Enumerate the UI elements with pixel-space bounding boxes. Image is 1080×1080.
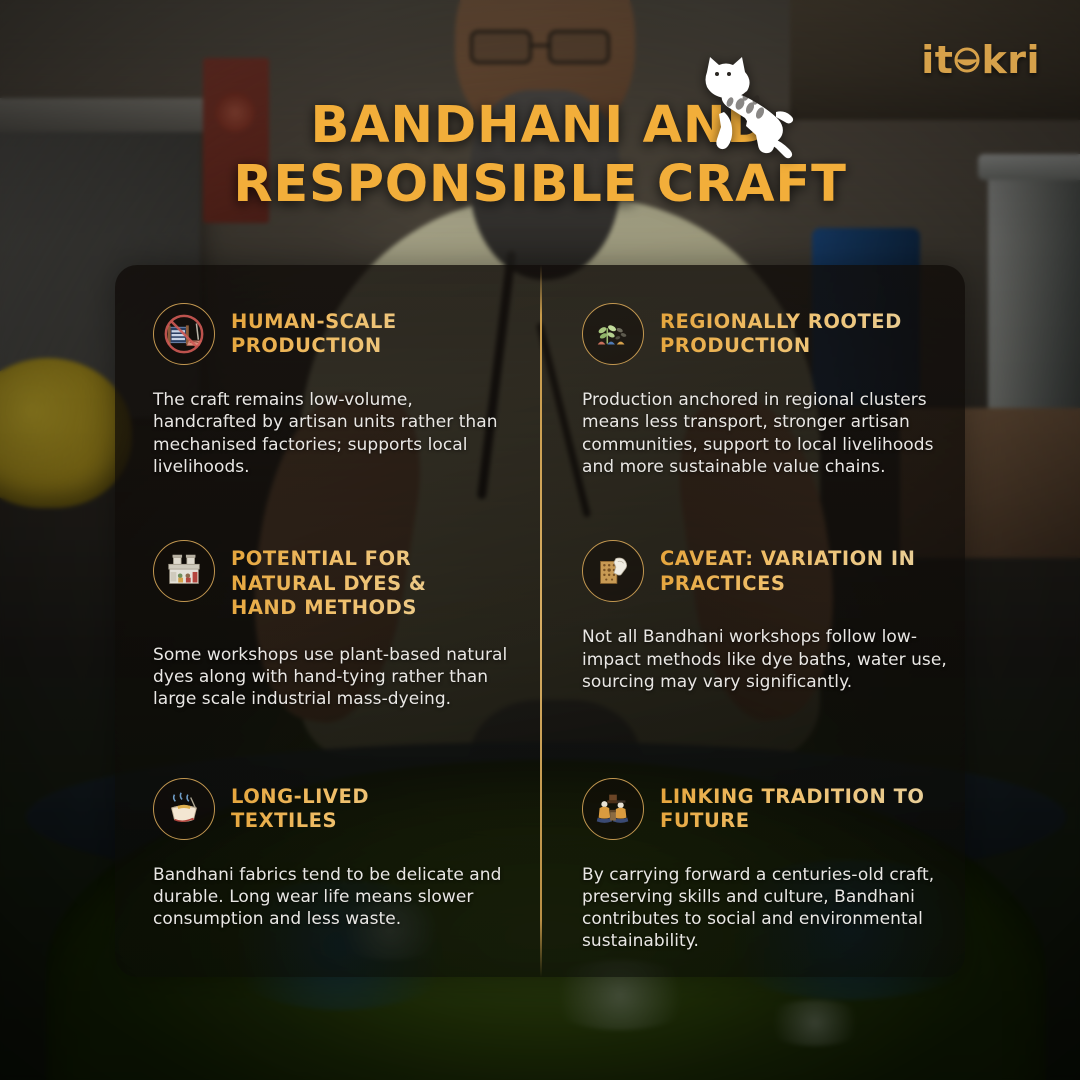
brand-logo-text-left: it	[921, 38, 953, 82]
card-header: HUMAN-SCALE PRODUCTION	[153, 303, 512, 365]
steaming-dye-pot-icon	[153, 778, 215, 840]
seedling-soil-icon	[582, 303, 644, 365]
card-header: LONG-LIVED TEXTILES	[153, 778, 512, 840]
card-body: By carrying forward a centuries-old craf…	[582, 864, 947, 953]
infographic-poster: it kri BANDHANI AND RESPONSIBLE CRAFT	[0, 0, 1080, 1080]
card-header: POTENTIAL FOR NATURAL DYES & HAND METHOD…	[153, 540, 512, 620]
card-caveat-variation-in-practices: CAVEAT: VARIATION IN PRACTICES Not all B…	[540, 502, 965, 739]
card-header: LINKING TRADITION TO FUTURE	[582, 778, 947, 840]
card-body: Some workshops use plant-based natural d…	[153, 644, 512, 711]
brand-logo-text-right: kri	[981, 38, 1040, 82]
card-body: Bandhani fabrics tend to be delicate and…	[153, 864, 512, 931]
basket-logo-icon	[954, 47, 980, 73]
card-title: HUMAN-SCALE PRODUCTION	[231, 303, 481, 358]
card-natural-dyes-hand-methods: POTENTIAL FOR NATURAL DYES & HAND METHOD…	[115, 502, 540, 739]
cat-illustration-icon	[684, 50, 804, 162]
brand-logo[interactable]: it kri	[921, 38, 1040, 82]
page-title: BANDHANI AND RESPONSIBLE CRAFT	[0, 96, 1080, 214]
card-long-lived-textiles: LONG-LIVED TEXTILES Bandhani fabrics ten…	[115, 740, 540, 977]
card-title: LONG-LIVED TEXTILES	[231, 778, 481, 833]
card-title: POTENTIAL FOR NATURAL DYES & HAND METHOD…	[231, 540, 481, 620]
hand-holding-fabric-swatch-icon	[582, 540, 644, 602]
title-line-1: BANDHANI AND	[0, 96, 1080, 155]
no-power-loom-icon	[153, 303, 215, 365]
content-panel: HUMAN-SCALE PRODUCTION The craft remains…	[115, 265, 965, 977]
card-header: CAVEAT: VARIATION IN PRACTICES	[582, 540, 947, 602]
cards-grid: HUMAN-SCALE PRODUCTION The craft remains…	[115, 265, 965, 977]
card-title: REGIONALLY ROOTED PRODUCTION	[660, 303, 928, 358]
card-body: Not all Bandhani workshops follow low-im…	[582, 626, 947, 693]
card-linking-tradition-to-future: LINKING TRADITION TO FUTURE By carrying …	[540, 740, 965, 977]
card-title: LINKING TRADITION TO FUTURE	[660, 778, 928, 833]
card-human-scale-production: HUMAN-SCALE PRODUCTION The craft remains…	[115, 265, 540, 502]
craft-workshop-building-icon	[153, 540, 215, 602]
card-regionally-rooted-production: REGIONALLY ROOTED PRODUCTION Production …	[540, 265, 965, 502]
card-title: CAVEAT: VARIATION IN PRACTICES	[660, 540, 928, 595]
card-body: Production anchored in regional clusters…	[582, 389, 947, 478]
card-body: The craft remains low-volume, handcrafte…	[153, 389, 512, 478]
title-line-2: RESPONSIBLE CRAFT	[0, 155, 1080, 214]
card-header: REGIONALLY ROOTED PRODUCTION	[582, 303, 947, 365]
two-artisans-seated-icon	[582, 778, 644, 840]
